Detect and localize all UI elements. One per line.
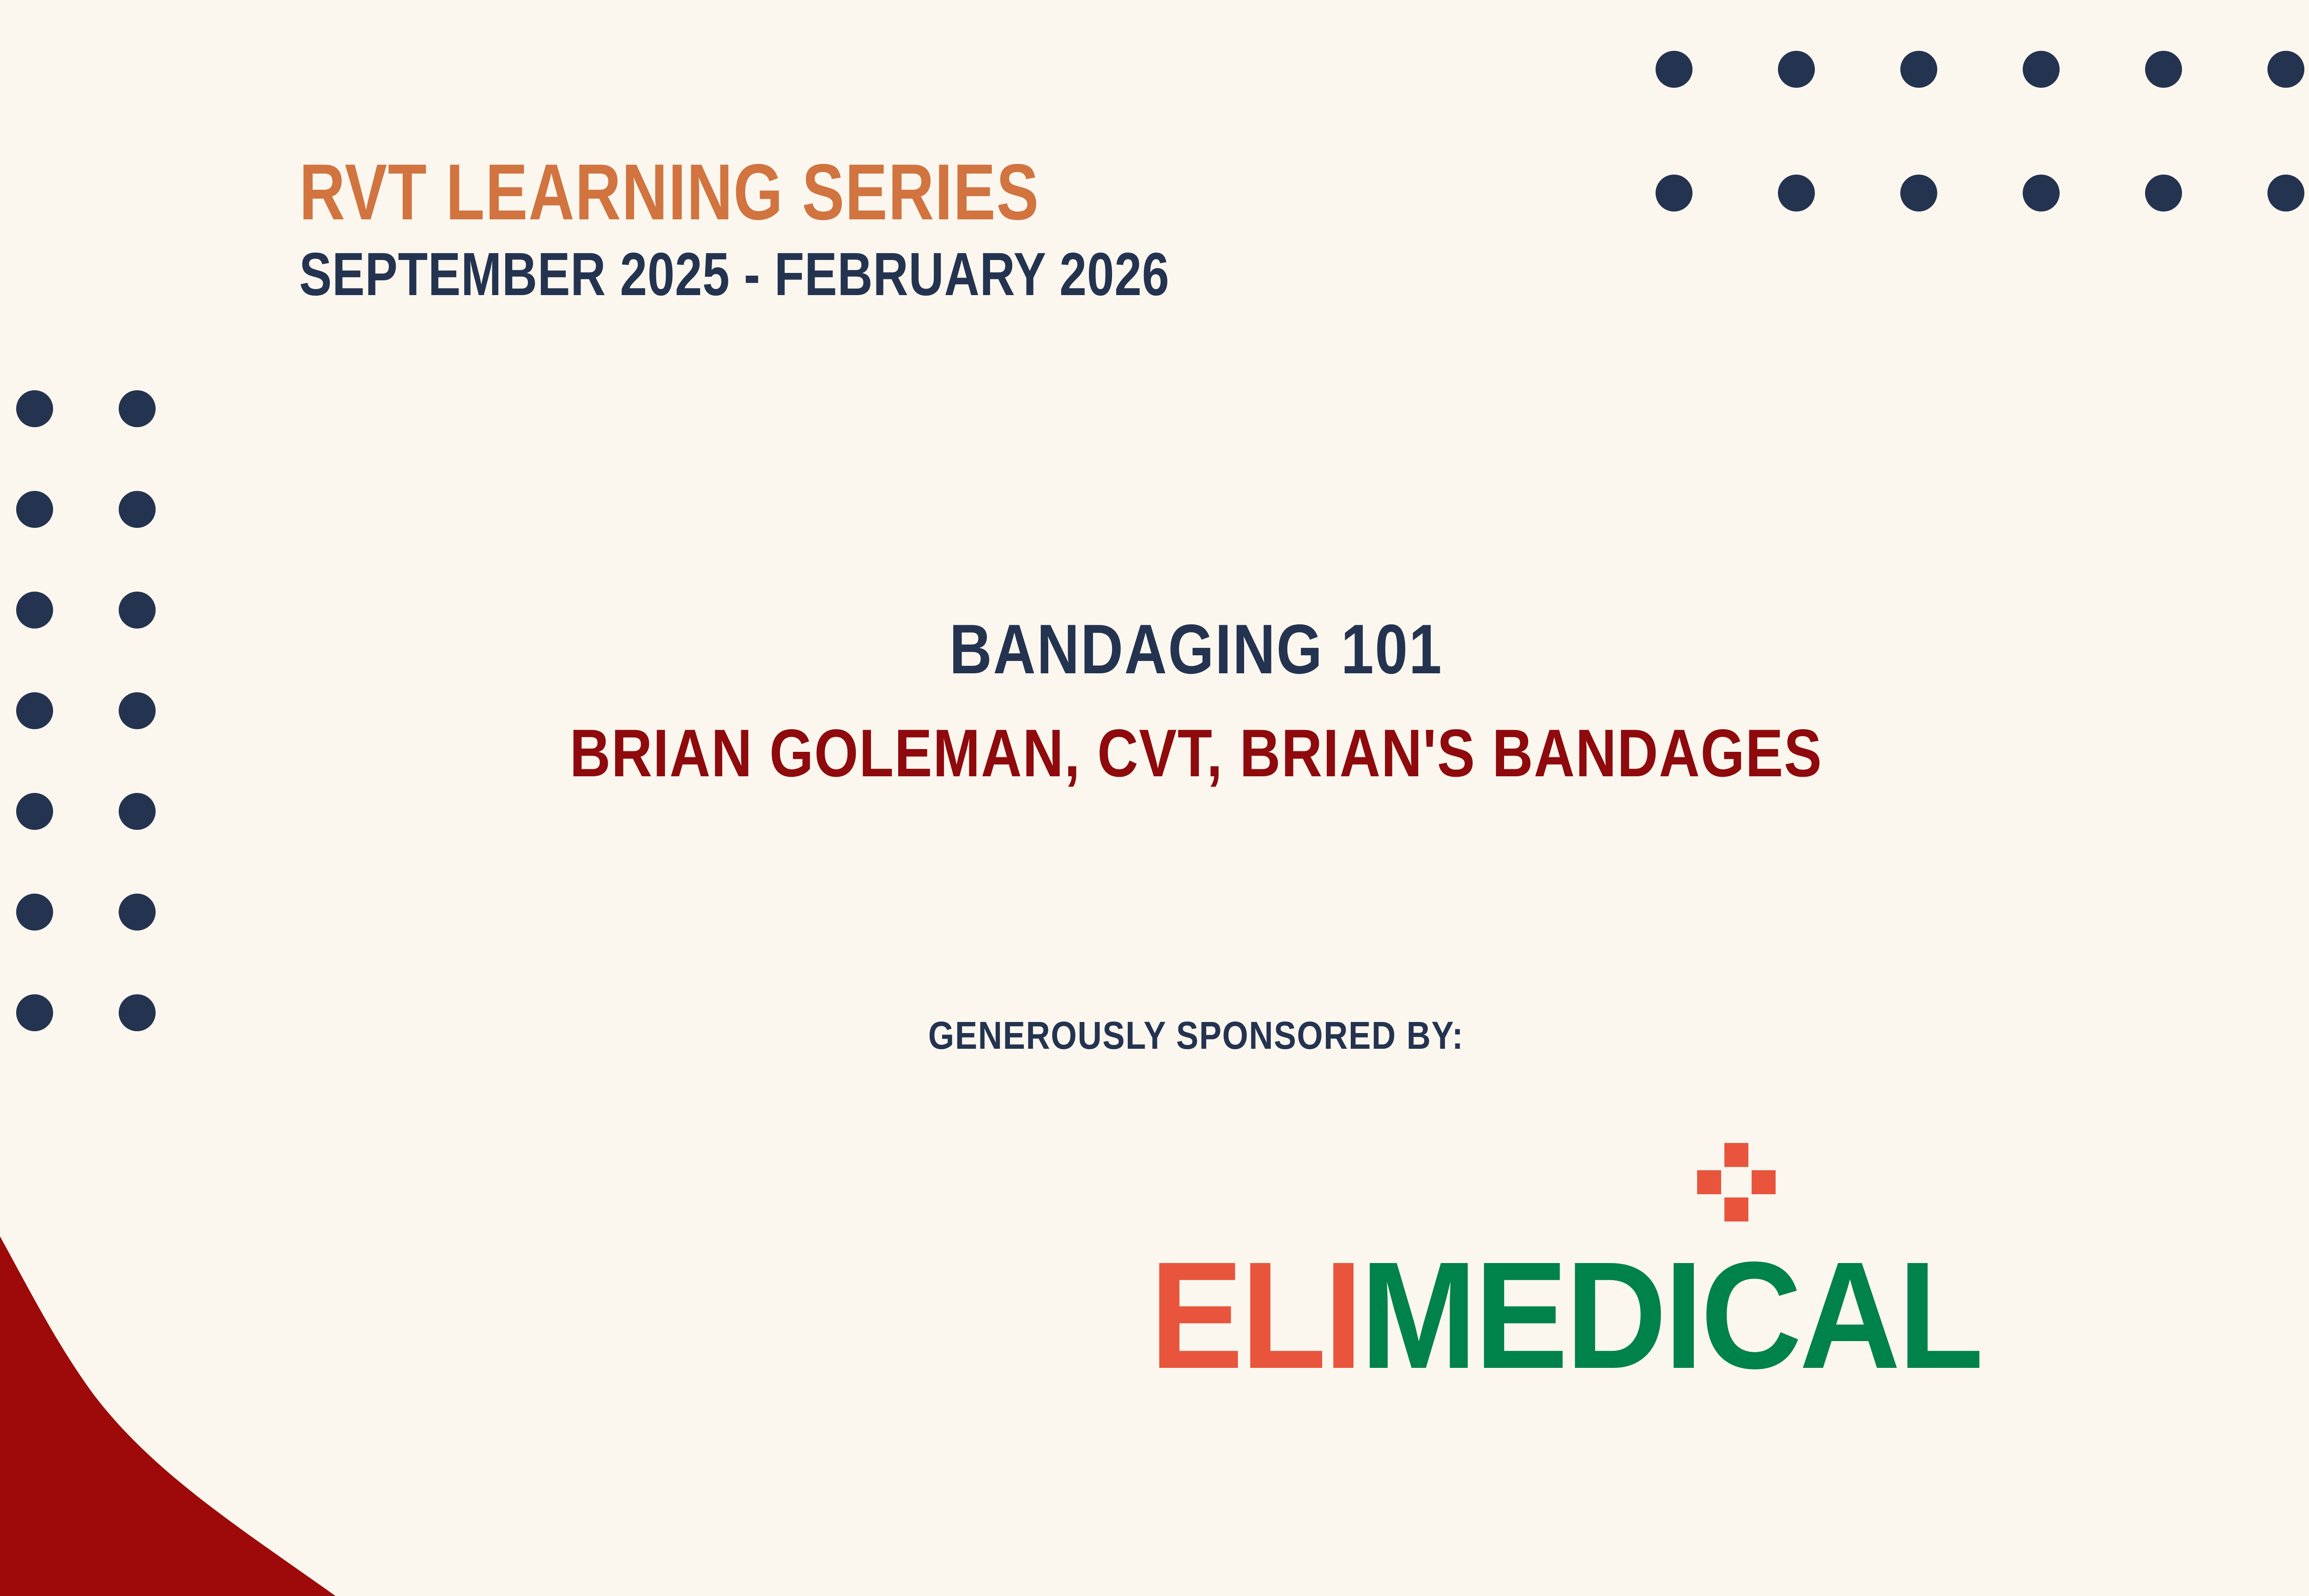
promo-banner: RVT LEARNING SERIES SEPTEMBER 2025 - FEB…	[0, 0, 2309, 1596]
series-title: RVT LEARNING SERIES	[299, 152, 1169, 232]
dot	[16, 793, 53, 830]
session-block: BANDAGING 101 BRIAN GOLEMAN, CVT, BRIAN'…	[0, 614, 2309, 787]
dot	[16, 390, 53, 427]
decorative-blob-red	[0, 903, 776, 1596]
cross-square-top	[1724, 1143, 1748, 1167]
dot	[1656, 175, 1692, 212]
medical-word: MEDICAL	[1360, 1230, 1981, 1400]
cross-square-bottom	[1724, 1197, 1748, 1221]
dot	[16, 994, 53, 1031]
dot	[1656, 51, 1692, 88]
dot	[2145, 51, 2182, 88]
dot	[119, 793, 156, 830]
medical-cross-icon	[1697, 1143, 1776, 1221]
series-date-range: SEPTEMBER 2025 - FEBRUARY 2026	[299, 244, 1169, 305]
dot	[2145, 175, 2182, 212]
session-speaker: BRIAN GOLEMAN, CVT, BRIAN'S BANDAGES	[191, 719, 2200, 787]
dot	[1778, 175, 1815, 212]
cross-square-left	[1697, 1170, 1721, 1194]
dot	[2267, 175, 2304, 212]
dot	[1778, 51, 1815, 88]
cross-square-right	[1752, 1170, 1776, 1194]
sponsor-label: GENEROUSLY SPONSORED BY:	[168, 1016, 2225, 1055]
dot	[119, 390, 156, 427]
dot	[16, 894, 53, 931]
session-title: BANDAGING 101	[191, 614, 2200, 684]
eli-word: ELI	[1150, 1230, 1360, 1400]
dot	[1900, 175, 1937, 212]
decorative-dot-grid-top-right	[1656, 51, 2309, 298]
elimedical-wordmark: ELIMEDICAL	[1150, 1250, 1981, 1381]
elimedical-logo: ELIMEDICAL	[1150, 1182, 2073, 1381]
dot	[119, 894, 156, 931]
dot	[119, 491, 156, 528]
dot	[2023, 51, 2060, 88]
header-block: RVT LEARNING SERIES SEPTEMBER 2025 - FEB…	[299, 152, 1387, 305]
dot	[2023, 175, 2060, 212]
dot	[119, 994, 156, 1031]
dot	[2267, 51, 2304, 88]
dot	[16, 491, 53, 528]
dot	[1900, 51, 1937, 88]
